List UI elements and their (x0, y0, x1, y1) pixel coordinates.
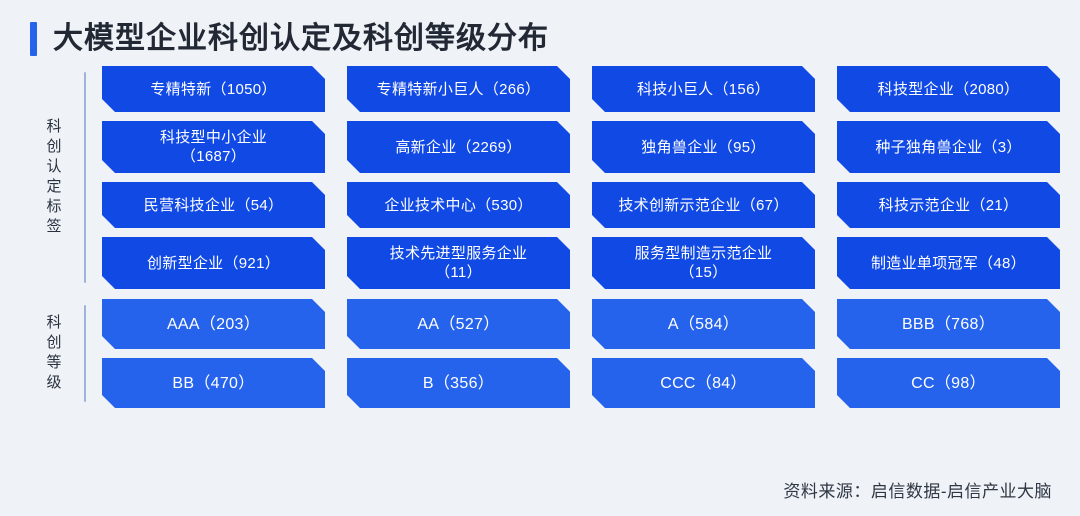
tag-row: 创新型企业（921） 技术先进型服务企业 （11） 服务型制造示范企业 （15）… (102, 237, 1060, 289)
group-label-certification: 科创认定标签 (46, 118, 63, 238)
group-divider (84, 305, 86, 402)
tag-chip[interactable]: 民营科技企业（54） (102, 182, 325, 228)
tag-label: 专精特新小巨人（266） (377, 80, 541, 99)
source-note: 资料来源：启信数据-启信产业大脑 (783, 477, 1052, 502)
tag-row: AAA（203） AA（527） A（584） BBB（768） (102, 299, 1060, 349)
tag-chip[interactable]: 技术先进型服务企业 （11） (347, 237, 570, 289)
tag-chip[interactable]: 高新企业（2269） (347, 121, 570, 173)
tag-chip[interactable]: 独角兽企业（95） (592, 121, 815, 173)
tag-chip[interactable]: 创新型企业（921） (102, 237, 325, 289)
grade-rows: AAA（203） AA（527） A（584） BBB（768） BB（470）… (102, 299, 1080, 408)
tag-label: 高新企业（2269） (395, 138, 521, 157)
tag-label: A（584） (668, 315, 739, 334)
page-title: 大模型企业科创认定及科创等级分布 (53, 22, 549, 56)
group-grade-tags: 科创等级 AAA（203） AA（527） A（584） BBB（768） BB… (24, 299, 1080, 408)
tag-label: AAA（203） (167, 315, 260, 334)
tag-chip[interactable]: 服务型制造示范企业 （15） (592, 237, 815, 289)
tag-chip[interactable]: A（584） (592, 299, 815, 349)
tag-chip[interactable]: B（356） (347, 358, 570, 408)
tag-label: 创新型企业（921） (147, 254, 280, 273)
tag-label: BB（470） (172, 374, 254, 393)
tag-label: 科技型企业（2080） (878, 80, 1020, 99)
title-accent-bar (30, 22, 37, 56)
tag-chip[interactable]: 技术创新示范企业（67） (592, 182, 815, 228)
tag-label: 服务型制造示范企业 （15） (635, 244, 773, 282)
tag-chip[interactable]: 科技型中小企业 （1687） (102, 121, 325, 173)
tag-chip[interactable]: AA（527） (347, 299, 570, 349)
tag-row: 科技型中小企业 （1687） 高新企业（2269） 独角兽企业（95） 种子独角… (102, 121, 1060, 173)
tag-label: 种子独角兽企业（3） (875, 138, 1021, 157)
tag-chip[interactable]: 种子独角兽企业（3） (837, 121, 1060, 173)
tag-label: 技术创新示范企业（67） (618, 196, 788, 215)
tag-chip[interactable]: CCC（84） (592, 358, 815, 408)
tag-label: 科技示范企业（21） (879, 196, 1019, 215)
tag-chip[interactable]: BB（470） (102, 358, 325, 408)
tag-board: 科创认定标签 专精特新（1050） 专精特新小巨人（266） 科技小巨人（156… (0, 52, 1080, 408)
tag-label: B（356） (423, 374, 494, 393)
tag-chip[interactable]: AAA（203） (102, 299, 325, 349)
tag-row: 专精特新（1050） 专精特新小巨人（266） 科技小巨人（156） 科技型企业… (102, 66, 1060, 112)
tag-label: CC（98） (911, 374, 986, 393)
tag-label: 制造业单项冠军（48） (871, 254, 1026, 273)
tag-chip[interactable]: CC（98） (837, 358, 1060, 408)
tag-label: 科技小巨人（156） (637, 80, 770, 99)
tag-chip[interactable]: 科技示范企业（21） (837, 182, 1060, 228)
certification-rows: 专精特新（1050） 专精特新小巨人（266） 科技小巨人（156） 科技型企业… (102, 66, 1080, 289)
group-label-grade: 科创等级 (46, 314, 63, 394)
tag-chip[interactable]: BBB（768） (837, 299, 1060, 349)
tag-chip[interactable]: 企业技术中心（530） (347, 182, 570, 228)
tag-label: 企业技术中心（530） (384, 196, 532, 215)
tag-label: 独角兽企业（95） (641, 138, 765, 157)
tag-label: 技术先进型服务企业 （11） (390, 244, 528, 282)
group-divider (84, 72, 86, 283)
tag-chip[interactable]: 制造业单项冠军（48） (837, 237, 1060, 289)
tag-label: CCC（84） (660, 374, 747, 393)
tag-row: BB（470） B（356） CCC（84） CC（98） (102, 358, 1060, 408)
page-header: 大模型企业科创认定及科创等级分布 (0, 0, 1080, 52)
group-certification-tags: 科创认定标签 专精特新（1050） 专精特新小巨人（266） 科技小巨人（156… (24, 66, 1080, 289)
tag-label: 专精特新（1050） (150, 80, 276, 99)
group-label-wrap: 科创认定标签 (24, 66, 84, 289)
tag-chip[interactable]: 科技小巨人（156） (592, 66, 815, 112)
tag-chip[interactable]: 科技型企业（2080） (837, 66, 1060, 112)
tag-chip[interactable]: 专精特新小巨人（266） (347, 66, 570, 112)
tag-label: AA（527） (417, 315, 499, 334)
tag-label: 科技型中小企业 （1687） (160, 128, 267, 166)
tag-chip[interactable]: 专精特新（1050） (102, 66, 325, 112)
tag-label: BBB（768） (902, 315, 995, 334)
group-label-wrap: 科创等级 (24, 299, 84, 408)
tag-row: 民营科技企业（54） 企业技术中心（530） 技术创新示范企业（67） 科技示范… (102, 182, 1060, 228)
tag-label: 民营科技企业（54） (144, 196, 284, 215)
